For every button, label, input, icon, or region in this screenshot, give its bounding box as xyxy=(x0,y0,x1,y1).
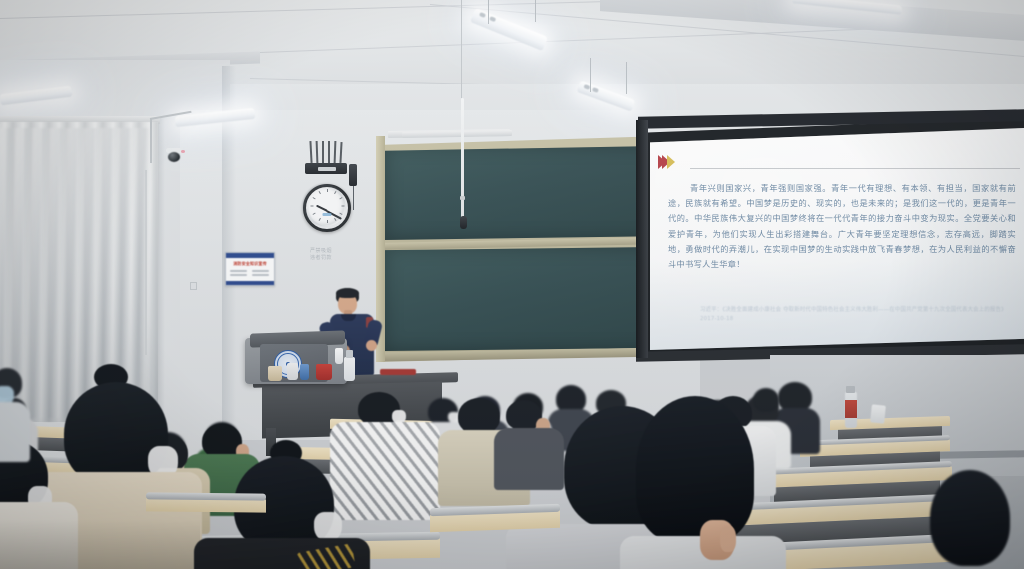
microphone-ring xyxy=(460,196,465,200)
chalkboard-panel-lower xyxy=(385,247,657,351)
beige-container[interactable] xyxy=(268,366,282,381)
presenter-hand-right xyxy=(366,340,377,351)
projection-screen: 青年兴则国家兴，青年强则国家强。青年一代有理想、有本领、有担当，国家就有前途，民… xyxy=(650,128,1024,350)
security-camera-icon xyxy=(168,152,180,162)
hanging-microphone-cable xyxy=(461,98,464,224)
blue-bottle[interactable] xyxy=(300,364,309,380)
water-bottle-label xyxy=(845,400,857,418)
small-white-object xyxy=(870,404,886,423)
white-container[interactable] xyxy=(287,363,298,380)
chalkboard-panel-upper xyxy=(385,146,657,240)
wall-switch[interactable] xyxy=(190,282,197,290)
camera-led-icon xyxy=(181,150,185,153)
notice-title: 消防安全知识宣传 xyxy=(226,261,274,266)
tall-white-bottle[interactable] xyxy=(335,348,343,364)
red-box-item[interactable] xyxy=(316,364,332,380)
wall-device-box xyxy=(349,164,357,186)
hanging-microphone xyxy=(460,216,467,229)
hand-sanitizer-bottle[interactable] xyxy=(344,357,355,381)
wall-notice-board: 消防安全知识宣传 xyxy=(225,252,275,286)
wall-side-text: 严禁吸烟 违者罚款 xyxy=(310,248,344,262)
classroom-scene: 消防安全知识宣传 严禁吸烟 违者罚款 青年兴则国家兴，青年强则国家强。青年一代有… xyxy=(0,0,1024,569)
